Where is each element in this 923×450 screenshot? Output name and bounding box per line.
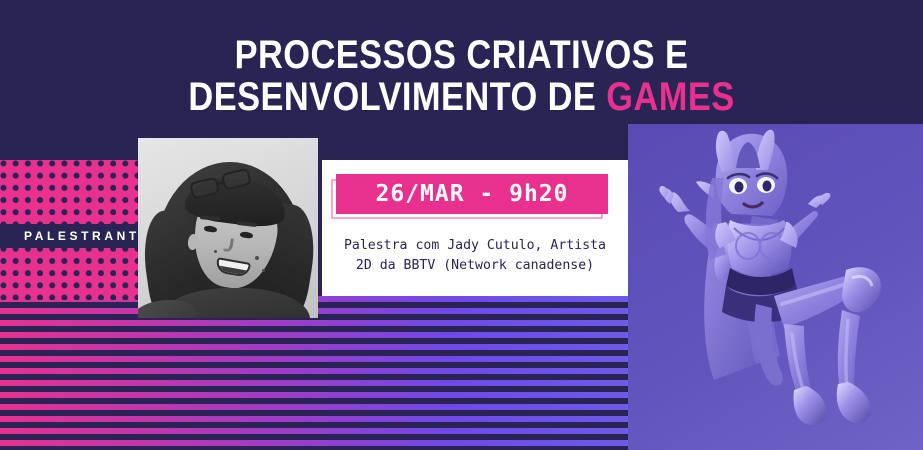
title-accent-games: GAMES [606,75,734,119]
description-line-2: 2D da BBTV (Network canadense) [322,256,628,276]
stripe-pattern-decoration [0,296,628,450]
date-badge-fill: 26/MAR - 9h20 [336,174,608,214]
speaker-photo-image [138,138,318,318]
photo-skin-mark [255,256,259,260]
title-line-1: PROCESSOS CRIATIVOS E [65,34,859,76]
event-description: Palestra com Jady Cutulo, Artista 2D da … [322,236,628,276]
date-badge: 26/MAR - 9h20 [336,174,608,214]
photo-skin-mark [214,250,217,253]
character-panel [628,124,923,450]
photo-skin-mark [262,269,265,272]
photo-skin-mark [220,266,223,269]
banner-title: PROCESSOS CRIATIVOS E DESENVOLVIMENTO DE… [0,34,923,119]
speaker-photo [138,138,318,318]
character-illustration [656,128,906,450]
event-banner: PROCESSOS CRIATIVOS E DESENVOLVIMENTO DE… [0,0,923,450]
title-line-2-prefix: DESENVOLVIMENTO DE [188,75,606,119]
description-line-1: Palestra com Jady Cutulo, Artista [322,236,628,256]
title-line-2: DESENVOLVIMENTO DE GAMES [65,76,859,118]
date-badge-text: 26/MAR - 9h20 [375,181,568,207]
